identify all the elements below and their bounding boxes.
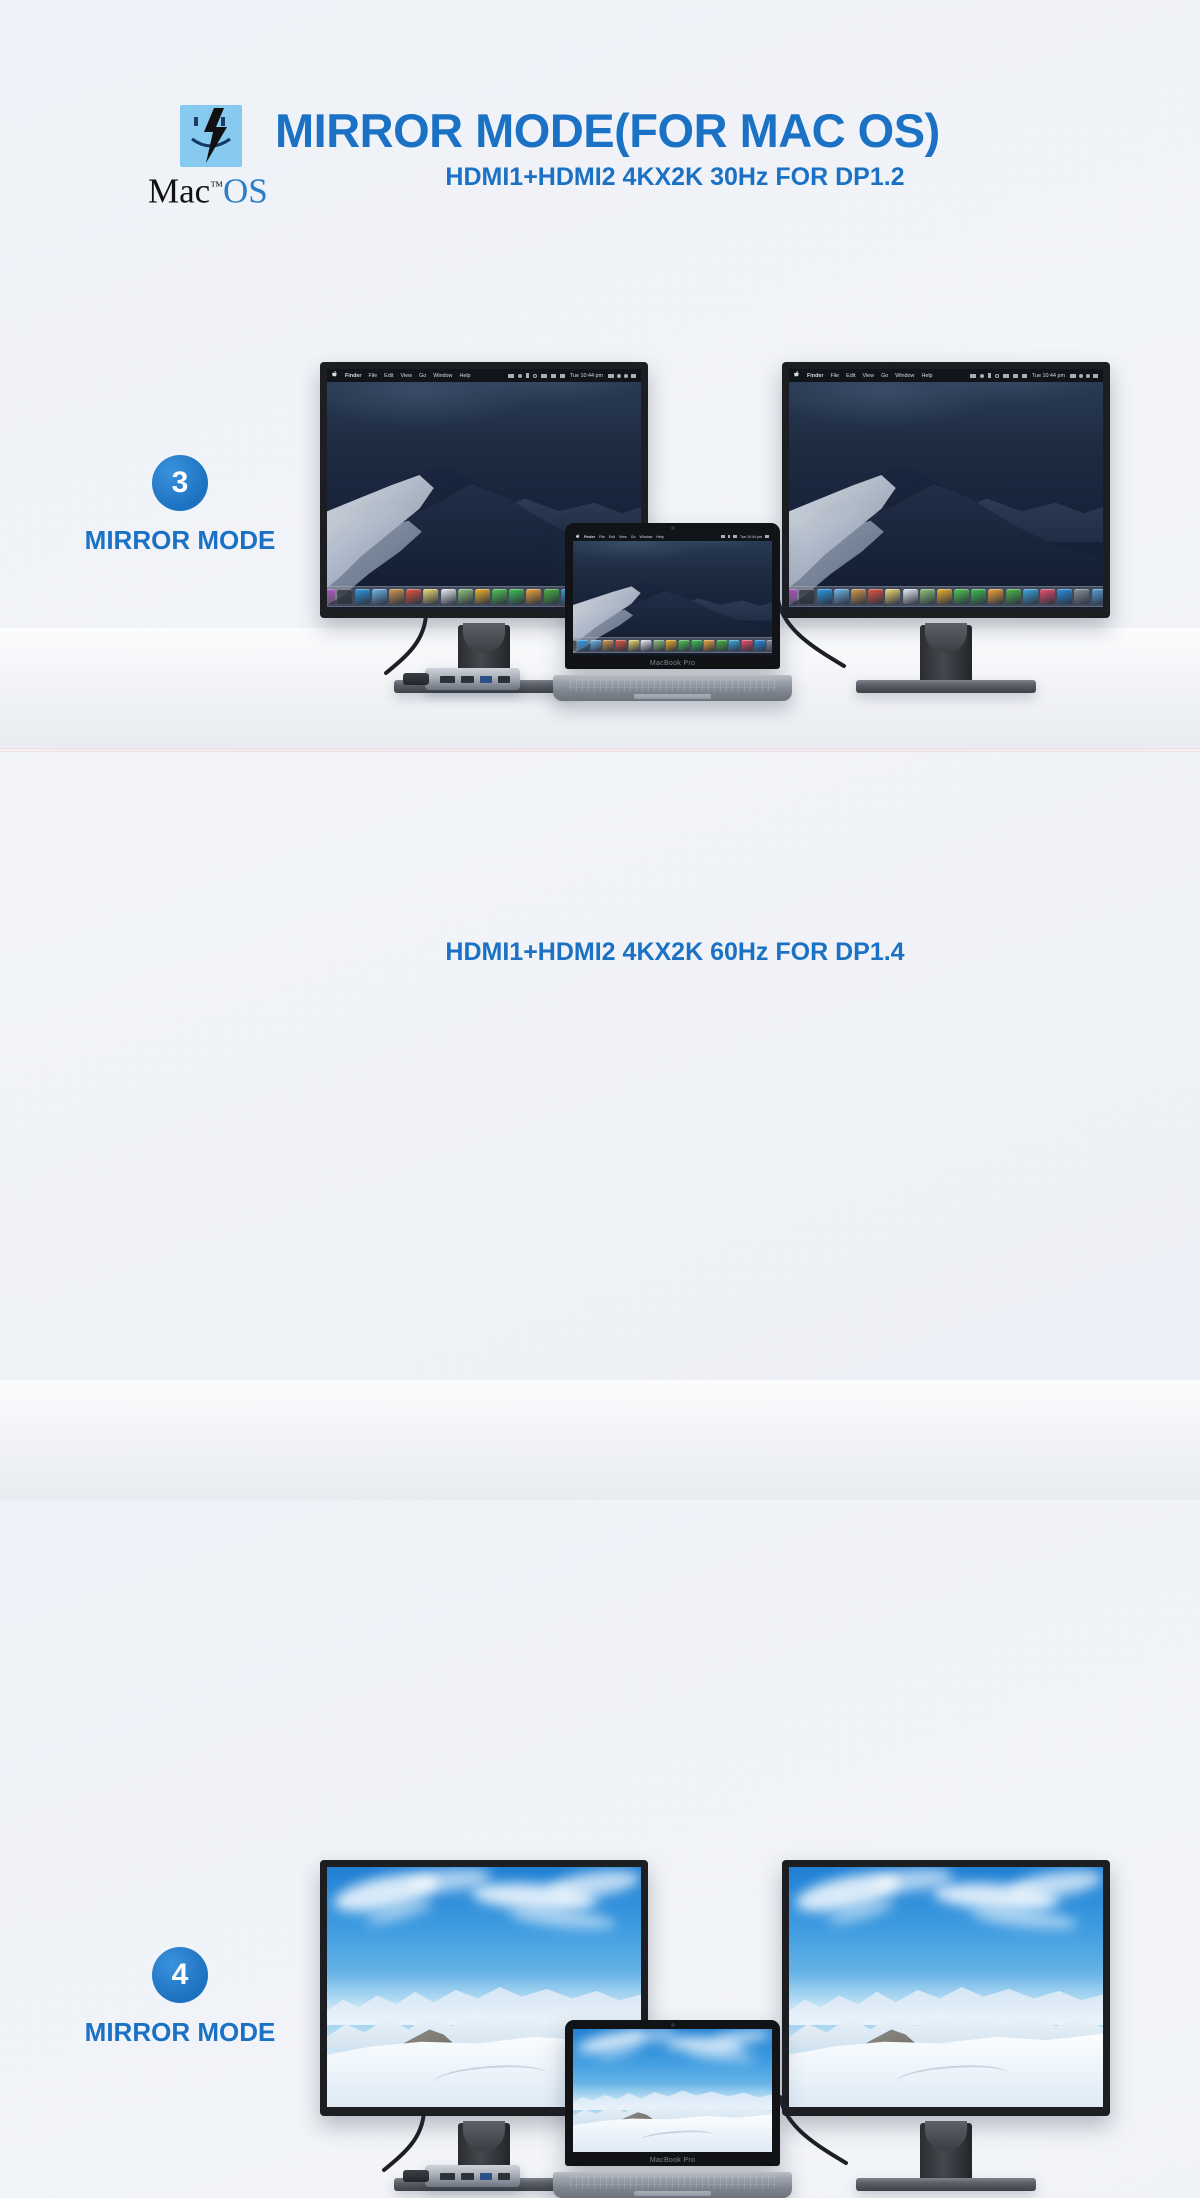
bluetooth-icon[interactable] bbox=[728, 535, 730, 538]
keyboard-icon[interactable] bbox=[608, 374, 614, 378]
menubar-clock[interactable]: Tue 10:44 pm bbox=[740, 535, 762, 539]
dock-icon-calendar[interactable] bbox=[406, 589, 421, 604]
dock-icon-facetime[interactable] bbox=[691, 640, 702, 651]
input-source-icon[interactable] bbox=[1022, 374, 1027, 378]
bluetooth-icon[interactable] bbox=[988, 373, 991, 378]
dock-icon-numbers[interactable] bbox=[1006, 589, 1021, 604]
dock-icon-pages[interactable] bbox=[989, 589, 1004, 604]
menu-edit[interactable]: Edit bbox=[846, 373, 855, 379]
dock-icon-photos[interactable] bbox=[937, 589, 952, 604]
dock-icon-maps[interactable] bbox=[653, 640, 664, 651]
macos-menubar[interactable]: Finder File Edit View Go Window Help Tue… bbox=[573, 532, 772, 541]
wifi-icon[interactable] bbox=[551, 374, 556, 378]
menu-help[interactable]: Help bbox=[921, 373, 932, 379]
webcam-icon bbox=[671, 526, 675, 530]
dock-icon-calendar[interactable] bbox=[868, 589, 883, 604]
wifi-icon[interactable] bbox=[1013, 374, 1018, 378]
input-source-icon[interactable] bbox=[560, 374, 565, 378]
usb-c-plug bbox=[403, 673, 429, 685]
step-badge-4: 4 bbox=[152, 1947, 208, 2003]
wallpaper-mojave-night bbox=[789, 369, 1103, 609]
menubar-clock[interactable]: Tue 10:44 pm bbox=[1032, 373, 1065, 379]
mirror-mode-section-4: 4 MIRROR MODE bbox=[0, 752, 1200, 1500]
macos-menubar[interactable]: Finder File Edit View Go Window Help bbox=[327, 369, 641, 382]
menu-file[interactable]: File bbox=[830, 373, 839, 379]
menu-window[interactable]: Window bbox=[433, 373, 452, 379]
menu-help[interactable]: Help bbox=[459, 373, 470, 379]
keyboard-icon[interactable] bbox=[1070, 374, 1076, 378]
hdmi-port bbox=[440, 676, 455, 683]
dock-icon-contacts[interactable] bbox=[603, 640, 614, 651]
menu-window[interactable]: Window bbox=[640, 535, 653, 539]
menu-finder[interactable]: Finder bbox=[807, 373, 823, 379]
desk-surface bbox=[0, 1380, 1200, 1500]
bluetooth-icon[interactable] bbox=[526, 373, 529, 378]
macbook-pro-3: Finder File Edit View Go Window Help Tue… bbox=[565, 523, 780, 669]
dock-icon-keynote[interactable] bbox=[1023, 589, 1038, 604]
laptop-brand-label: MacBook Pro bbox=[565, 2157, 780, 2164]
macos-dock[interactable] bbox=[789, 586, 1103, 607]
dock-icon-facetime[interactable] bbox=[971, 589, 986, 604]
search-icon[interactable] bbox=[995, 374, 999, 378]
dock-icon-numbers[interactable] bbox=[716, 640, 727, 651]
macos-menubar[interactable]: Finder File Edit View Go Window Help bbox=[789, 369, 1103, 382]
dock-icon-maps[interactable] bbox=[920, 589, 935, 604]
battery-icon[interactable] bbox=[721, 535, 725, 538]
dock-icon-itunes[interactable] bbox=[742, 640, 753, 651]
dock-icon-messages[interactable] bbox=[492, 589, 507, 604]
dock-icon-pages[interactable] bbox=[704, 640, 715, 651]
mode-title-3: MIRROR MODE bbox=[50, 525, 310, 556]
wallpaper-snow-mountains bbox=[573, 2029, 772, 2152]
dock-icon-notes[interactable] bbox=[423, 589, 438, 604]
dock-icon-launchpad[interactable] bbox=[338, 589, 353, 604]
macos-dock[interactable] bbox=[573, 637, 772, 653]
moon-icon[interactable] bbox=[980, 374, 984, 378]
control-center-icon[interactable] bbox=[765, 535, 769, 538]
dock-icon-notes[interactable] bbox=[628, 640, 639, 651]
mode-label-group-4: 4 MIRROR MODE bbox=[50, 1947, 310, 2048]
dock-icon-app-store[interactable] bbox=[1057, 589, 1072, 604]
menu-file[interactable]: File bbox=[599, 535, 605, 539]
dock-icon-system-preferences[interactable] bbox=[1075, 589, 1090, 604]
trackpad bbox=[634, 2191, 710, 2196]
dock-icon-launchpad[interactable] bbox=[573, 640, 576, 651]
dock-icon-app-store[interactable] bbox=[754, 640, 765, 651]
dock-icon-launchpad[interactable] bbox=[800, 589, 815, 604]
menu-edit[interactable]: Edit bbox=[384, 373, 393, 379]
dock-icon-numbers[interactable] bbox=[544, 589, 559, 604]
dock-icon-mail[interactable] bbox=[590, 640, 601, 651]
menu-view[interactable]: View bbox=[400, 373, 412, 379]
dock-icon-keynote[interactable] bbox=[729, 640, 740, 651]
macbook-pro-4: MacBook Pro bbox=[565, 2020, 780, 2166]
siri-icon[interactable] bbox=[1086, 374, 1090, 378]
menu-go[interactable]: Go bbox=[631, 535, 636, 539]
battery-icon[interactable] bbox=[508, 374, 514, 378]
dock-icon-calendar[interactable] bbox=[616, 640, 627, 651]
usb-a-port bbox=[480, 676, 492, 683]
usb-c-port bbox=[498, 676, 509, 683]
wifi-icon[interactable] bbox=[733, 535, 737, 538]
keyboard bbox=[570, 679, 775, 693]
menu-window[interactable]: Window bbox=[895, 373, 914, 379]
menu-go[interactable]: Go bbox=[419, 373, 426, 379]
usb-c-port bbox=[498, 2173, 509, 2180]
menu-go[interactable]: Go bbox=[881, 373, 888, 379]
dock-icon-notes[interactable] bbox=[885, 589, 900, 604]
battery-icon[interactable] bbox=[970, 374, 976, 378]
laptop-brand-label: MacBook Pro bbox=[565, 660, 780, 667]
usb-c-plug bbox=[403, 2170, 429, 2182]
dock-icon-pages[interactable] bbox=[527, 589, 542, 604]
wallpaper-snow-mountains bbox=[789, 1867, 1103, 2107]
user-icon[interactable] bbox=[1079, 374, 1083, 378]
dock-icon-contacts[interactable] bbox=[389, 589, 404, 604]
dock-icon-facetime[interactable] bbox=[509, 589, 524, 604]
mirror-mode-section-3: 3 MIRROR MODE Finder bbox=[0, 0, 1200, 748]
menu-file[interactable]: File bbox=[368, 373, 377, 379]
dock-icon-mail[interactable] bbox=[372, 589, 387, 604]
dock-icon-contacts[interactable] bbox=[851, 589, 866, 604]
mode-label-group-3: 3 MIRROR MODE bbox=[50, 455, 310, 556]
menu-help[interactable]: Help bbox=[656, 535, 663, 539]
sd-card-port bbox=[461, 2173, 474, 2180]
siri-icon[interactable] bbox=[624, 374, 628, 378]
screen-share-icon[interactable] bbox=[1003, 374, 1009, 378]
dock-icon-safari[interactable] bbox=[817, 589, 832, 604]
dock-icon-reminders[interactable] bbox=[641, 640, 652, 651]
dock-icon-safari[interactable] bbox=[578, 640, 589, 651]
apple-logo-icon[interactable] bbox=[576, 534, 580, 540]
apple-logo-icon[interactable] bbox=[332, 371, 338, 380]
menu-view[interactable]: View bbox=[619, 535, 627, 539]
menu-finder[interactable]: Finder bbox=[584, 535, 595, 539]
dock-icon-messages[interactable] bbox=[679, 640, 690, 651]
apple-logo-icon[interactable] bbox=[794, 371, 800, 380]
dock-icon-photos[interactable] bbox=[666, 640, 677, 651]
webcam-icon bbox=[671, 2023, 675, 2027]
control-center-icon[interactable] bbox=[1093, 374, 1098, 378]
dock-icon-reminders[interactable] bbox=[903, 589, 918, 604]
trackpad bbox=[634, 694, 710, 699]
menubar-clock[interactable]: Tue 10:44 pm bbox=[570, 373, 603, 379]
control-center-icon[interactable] bbox=[631, 374, 636, 378]
dock-icon-system-preferences[interactable] bbox=[767, 640, 772, 651]
usb-c-docking-hub-3 bbox=[425, 668, 520, 690]
dock-icon-downloads[interactable] bbox=[1092, 589, 1103, 604]
menu-finder[interactable]: Finder bbox=[345, 373, 361, 379]
dock-icon-safari[interactable] bbox=[355, 589, 370, 604]
dock-icon-photos[interactable] bbox=[475, 589, 490, 604]
mode-title-4: MIRROR MODE bbox=[50, 2017, 310, 2048]
menu-view[interactable]: View bbox=[862, 373, 874, 379]
dock-icon-maps[interactable] bbox=[458, 589, 473, 604]
dock-icon-itunes[interactable] bbox=[1040, 589, 1055, 604]
keyboard bbox=[570, 2176, 775, 2190]
dock-icon-mail[interactable] bbox=[834, 589, 849, 604]
moon-icon[interactable] bbox=[518, 374, 522, 378]
dock-icon-siri[interactable] bbox=[327, 589, 335, 604]
dock-icon-messages[interactable] bbox=[954, 589, 969, 604]
menu-edit[interactable]: Edit bbox=[609, 535, 615, 539]
step-badge-3: 3 bbox=[152, 455, 208, 511]
usb-a-port bbox=[480, 2173, 492, 2180]
user-icon[interactable] bbox=[617, 374, 621, 378]
search-icon[interactable] bbox=[533, 374, 537, 378]
hdmi-port bbox=[440, 2173, 455, 2180]
screen-share-icon[interactable] bbox=[541, 374, 547, 378]
sd-card-port bbox=[461, 676, 474, 683]
dock-icon-siri[interactable] bbox=[789, 589, 797, 604]
usb-c-docking-hub-4 bbox=[425, 2165, 520, 2187]
dock-icon-reminders[interactable] bbox=[441, 589, 456, 604]
